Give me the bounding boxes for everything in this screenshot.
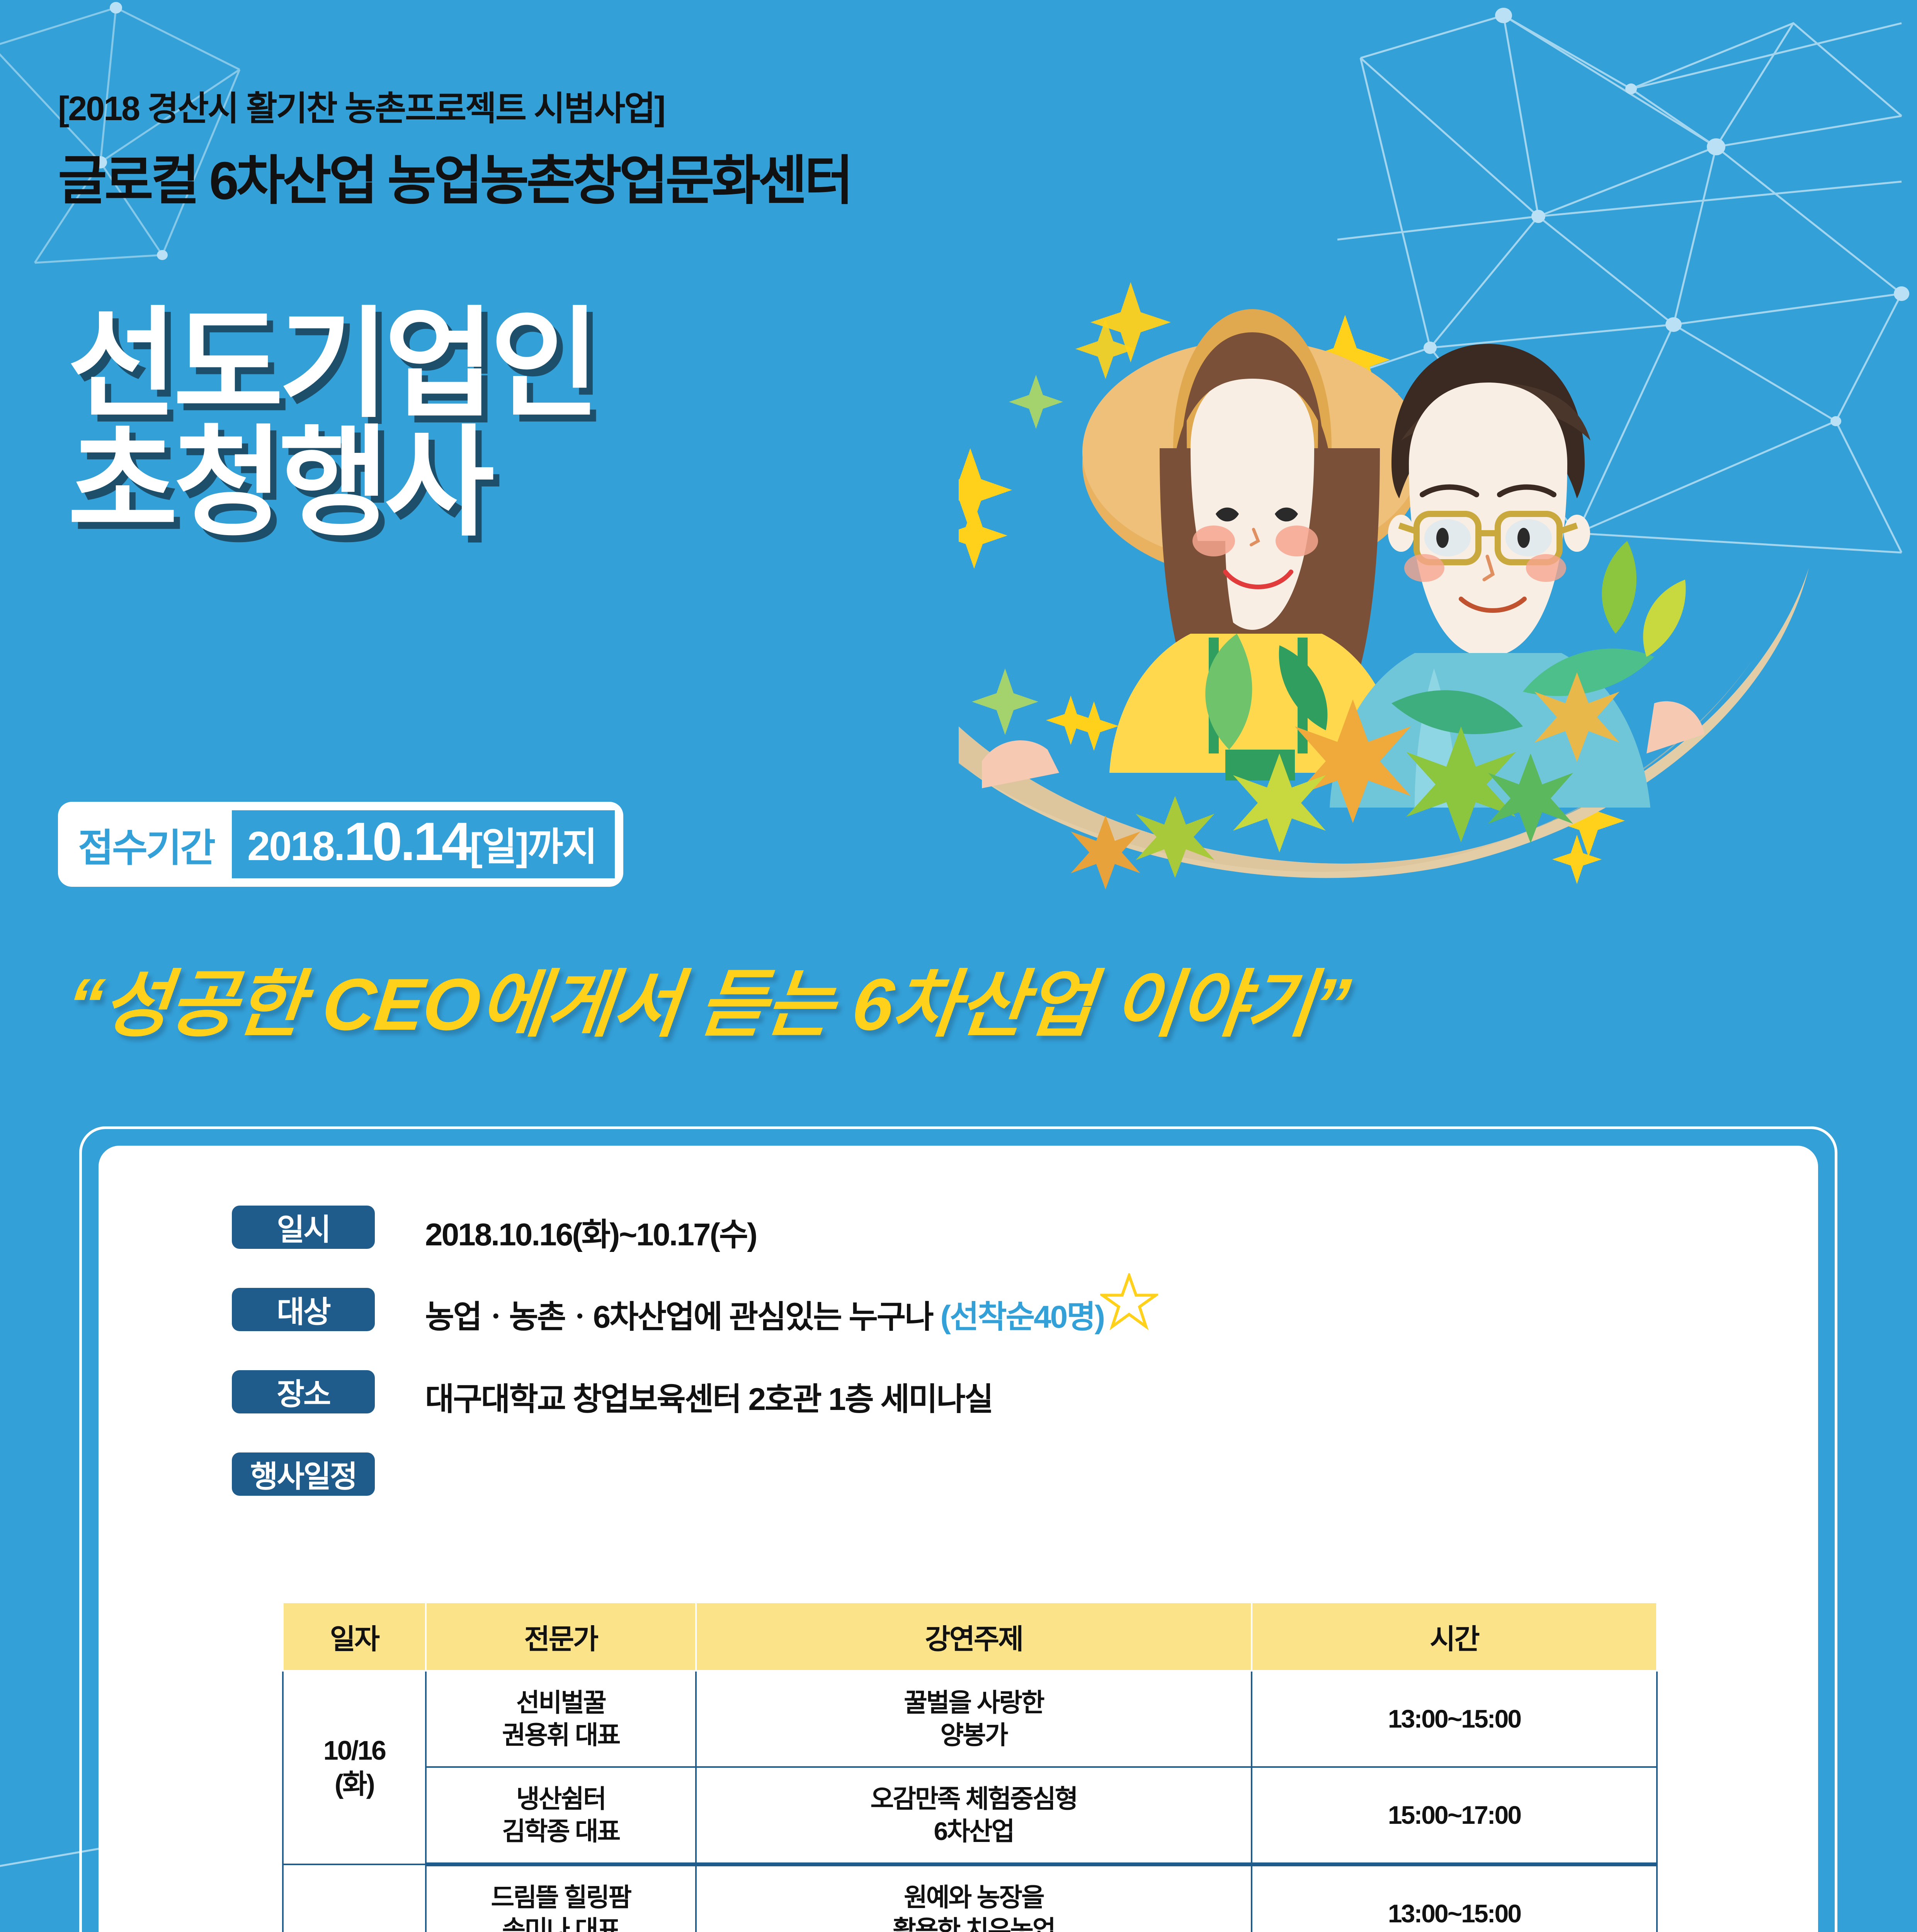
th-time: 시간 <box>1252 1602 1657 1671</box>
kicker-text: [2018 경산시 활기찬 농촌프로젝트 시범사업] <box>58 81 665 130</box>
cell-time: 13:00~15:00 <box>1252 1671 1657 1767</box>
tagline-text: “성공한 CEO에게서 듣는 6차산업 이야기” <box>62 945 1356 1051</box>
cell-expert: 선비벌꿀권용휘 대표 <box>426 1671 696 1767</box>
th-expert: 전문가 <box>426 1602 696 1671</box>
poster-canvas: [2018 경산시 활기찬 농촌프로젝트 시범사업] 글로컬 6차산업 농업농촌… <box>0 0 1917 1932</box>
schedule-table: 일자 전문가 강연주제 시간 10/16(화) 선비벌꿀권용휘 대표 꿀벌을 사… <box>282 1602 1658 1932</box>
info-row-schedule: 행사일정 <box>232 1452 1739 1496</box>
cell-date: 10/16(화) <box>283 1671 426 1864</box>
info-row-audience: 대상 농업ㆍ농촌ㆍ6차산업에 관심있는 누구나 (선착순40명) <box>232 1288 1739 1337</box>
deadline-year: 2018. <box>247 823 344 870</box>
info-label-schedule: 행사일정 <box>232 1452 375 1496</box>
table-row: 10/17(수) 드림뜰 힐링팜송미나 대표 원예와 농장을활용한 치유농업 1… <box>283 1864 1657 1932</box>
info-row-datetime: 일시 2018.10.16(화)~10.17(수) <box>232 1206 1739 1255</box>
cell-topic: 원예와 농장을활용한 치유농업 <box>696 1864 1252 1932</box>
subtitle-text: 글로컬 6차산업 농업농촌창업문화센터 <box>58 137 851 214</box>
cell-expert: 드림뜰 힐링팜송미나 대표 <box>426 1864 696 1932</box>
cell-topic: 꿀벌을 사랑한양봉가 <box>696 1671 1252 1767</box>
info-value-venue: 대구대학교 창업보육센터 2호관 1층 세미나실 <box>425 1370 992 1419</box>
audience-text: 농업ㆍ농촌ㆍ6차산업에 관심있는 누구나 <box>425 1299 940 1335</box>
cell-date: 10/17(수) <box>283 1864 426 1932</box>
info-label-venue: 장소 <box>232 1370 375 1413</box>
info-label-audience: 대상 <box>232 1288 375 1331</box>
application-period-badge: 접수기간 2018. 10.14 [일]까지 <box>58 802 623 887</box>
info-row-venue: 장소 대구대학교 창업보육센터 2호관 1층 세미나실 <box>232 1370 1739 1419</box>
table-row: 냉산쉼터김학종 대표 오감만족 체험중심형6차산업 15:00~17:00 <box>283 1767 1657 1864</box>
info-value-audience: 농업ㆍ농촌ㆍ6차산업에 관심있는 누구나 (선착순40명) <box>425 1288 1104 1337</box>
cell-expert: 냉산쉼터김학종 대표 <box>426 1767 696 1864</box>
application-period-label: 접수기간 <box>58 802 232 887</box>
farmer-couple-illustration <box>959 247 1905 927</box>
deadline-day: 10.14 <box>344 810 469 873</box>
table-header-row: 일자 전문가 강연주제 시간 <box>283 1602 1657 1671</box>
info-rows: 일시 2018.10.16(화)~10.17(수) 대상 농업ㆍ농촌ㆍ6차산업에… <box>232 1206 1739 1529</box>
info-value-datetime: 2018.10.16(화)~10.17(수) <box>425 1206 757 1255</box>
network-pattern-top-left <box>0 0 270 270</box>
deadline-tail: [일]까지 <box>470 815 597 871</box>
title-line-1: 선도기업인 <box>68 305 595 424</box>
info-label-datetime: 일시 <box>232 1206 375 1249</box>
table-row: 10/16(화) 선비벌꿀권용휘 대표 꿀벌을 사랑한양봉가 13:00~15:… <box>283 1671 1657 1767</box>
application-deadline-value: 2018. 10.14 [일]까지 <box>232 810 615 878</box>
cell-topic: 오감만족 체험중심형6차산업 <box>696 1767 1252 1864</box>
star-icon <box>1100 1273 1158 1331</box>
cell-time: 15:00~17:00 <box>1252 1767 1657 1864</box>
th-date: 일자 <box>283 1602 426 1671</box>
page-title: 선도기업인 초청행사 <box>68 305 595 543</box>
title-line-2: 초청행사 <box>68 424 595 543</box>
audience-capacity-badge: (선착순40명) <box>940 1299 1104 1335</box>
cell-time: 13:00~15:00 <box>1252 1864 1657 1932</box>
th-topic: 강연주제 <box>696 1602 1252 1671</box>
table-body: 10/16(화) 선비벌꿀권용휘 대표 꿀벌을 사랑한양봉가 13:00~15:… <box>283 1671 1657 1932</box>
